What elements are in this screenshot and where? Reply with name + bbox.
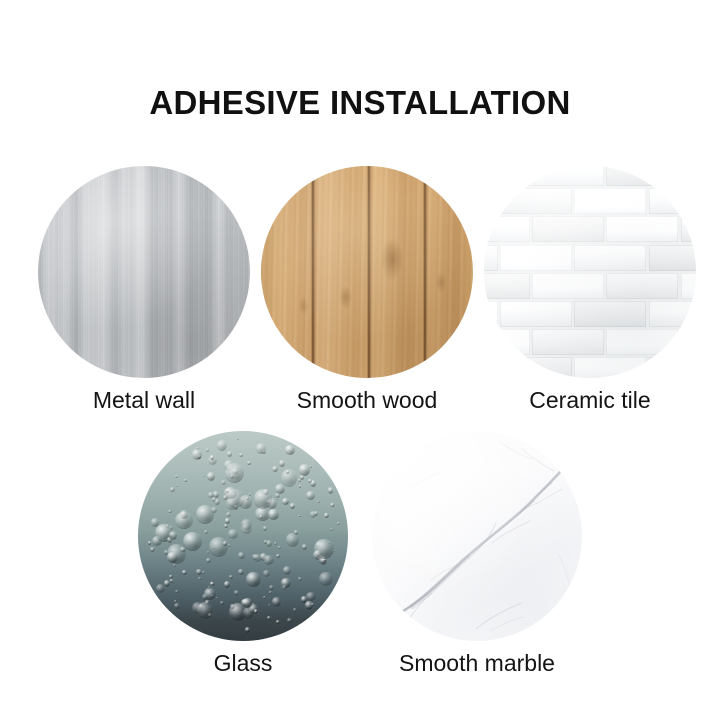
water-droplet: [223, 541, 227, 545]
water-droplet: [210, 455, 214, 460]
water-droplet: [246, 572, 260, 587]
water-droplet: [168, 510, 171, 513]
water-droplet: [308, 479, 312, 482]
glass-swatch-image: [138, 431, 348, 641]
water-droplet: [298, 515, 300, 517]
water-droplet: [175, 590, 178, 593]
water-droplet: [175, 475, 178, 479]
water-droplet: [282, 585, 287, 590]
water-droplet: [302, 544, 307, 549]
water-droplet: [268, 509, 279, 519]
water-droplet: [319, 572, 334, 585]
water-droplet: [156, 584, 165, 593]
water-droplet: [324, 513, 328, 517]
water-droplet: [276, 620, 281, 624]
water-droplet: [198, 577, 202, 580]
tile-brick: [532, 329, 604, 355]
water-droplet: [170, 579, 173, 583]
water-droplet: [243, 607, 254, 619]
smooth-marble-label: Smooth marble: [399, 651, 555, 676]
tile-brick: [574, 301, 646, 327]
tile-brick: [484, 188, 498, 214]
water-droplet: [225, 463, 244, 483]
water-droplet: [242, 598, 253, 608]
water-droplet: [169, 575, 172, 579]
water-droplet: [210, 582, 215, 586]
water-droplet: [328, 487, 334, 493]
water-droplet: [276, 554, 280, 558]
tile-brick: [681, 273, 696, 299]
tile-brick: [681, 329, 696, 355]
water-droplet: [192, 449, 202, 459]
water-droplet: [228, 544, 231, 547]
water-droplet: [245, 627, 250, 632]
tile-brick: [484, 301, 498, 327]
water-droplet: [221, 480, 226, 485]
surface-row-top: Metal wall Smooth wood Ceramic tile: [0, 166, 720, 413]
tile-brick: [484, 216, 530, 242]
water-droplet: [182, 570, 187, 574]
tile-brick: [606, 216, 678, 242]
ceramic-tile-label: Ceramic tile: [529, 388, 650, 413]
water-droplet: [208, 492, 214, 497]
water-droplet: [183, 532, 202, 551]
tile-brick: [681, 216, 696, 242]
tile-brick: [484, 166, 530, 186]
surface-card-ceramic-tile: Ceramic tile: [484, 166, 696, 413]
tile-brick: [649, 188, 696, 214]
water-droplet: [196, 505, 213, 524]
water-droplet: [286, 533, 299, 547]
water-droplet: [202, 571, 205, 574]
water-droplet: [276, 498, 278, 500]
metal-wall-label: Metal wall: [93, 388, 195, 413]
water-droplet: [298, 577, 301, 581]
water-droplet: [197, 602, 213, 618]
water-droplet: [282, 498, 289, 505]
water-droplet: [287, 618, 292, 623]
water-droplet: [314, 539, 333, 559]
tile-brick: [574, 188, 646, 214]
water-droplet: [263, 596, 266, 599]
water-droplet: [224, 524, 228, 529]
water-droplet: [269, 591, 273, 595]
water-droplet: [226, 512, 231, 517]
water-droplet: [224, 581, 230, 588]
water-droplet: [238, 569, 244, 575]
water-droplet: [254, 554, 262, 562]
water-droplet: [290, 503, 295, 508]
surface-card-metal-wall: Metal wall: [38, 166, 250, 413]
tile-brick: [649, 301, 696, 327]
water-droplet: [259, 515, 262, 519]
surface-row-bottom: Glass: [0, 431, 720, 676]
water-droplet: [206, 558, 211, 563]
water-droplet: [202, 594, 208, 599]
smooth-wood-swatch-image: [261, 166, 473, 378]
water-droplet: [241, 519, 251, 530]
water-droplet: [299, 485, 301, 487]
water-droplet: [263, 555, 274, 565]
marble-vein-graphic: [372, 431, 582, 641]
water-droplet: [229, 575, 233, 579]
water-droplet: [272, 597, 281, 606]
tile-brick: [484, 273, 530, 299]
water-droplet: [239, 453, 243, 457]
water-droplet: [269, 585, 274, 590]
water-droplet: [274, 542, 277, 545]
water-droplet: [169, 531, 177, 540]
tile-brick: [649, 245, 696, 271]
water-droplet: [246, 497, 249, 500]
smooth-marble-swatch-image: [372, 431, 582, 641]
product-infographic: ADHESIVE INSTALLATION Metal wall Smooth …: [0, 0, 720, 720]
water-droplet: [300, 475, 304, 480]
water-droplet: [254, 489, 272, 509]
water-droplet: [212, 497, 216, 501]
water-droplet: [227, 451, 232, 457]
water-droplet: [263, 526, 268, 531]
water-droplet: [238, 552, 245, 559]
water-droplet: [293, 608, 296, 611]
water-droplet: [207, 551, 210, 554]
water-droplet: [272, 466, 278, 472]
ceramic-tile-swatch-image: [484, 166, 696, 378]
tile-brick: [681, 166, 696, 186]
water-droplet: [247, 461, 251, 466]
water-droplet: [330, 528, 333, 531]
water-droplet: [237, 438, 240, 440]
water-droplet: [220, 601, 224, 605]
water-droplet: [174, 603, 180, 610]
water-droplet: [314, 511, 319, 516]
water-droplet: [180, 510, 188, 519]
glass-label: Glass: [214, 651, 273, 676]
tile-brick: [574, 357, 646, 378]
water-droplet: [217, 440, 227, 451]
water-droplet: [206, 448, 210, 452]
tile-brick: [500, 357, 572, 378]
water-droplet: [216, 597, 218, 599]
tile-brick: [606, 273, 678, 299]
smooth-wood-label: Smooth wood: [297, 388, 438, 413]
water-droplet: [268, 604, 271, 607]
tile-brick: [484, 245, 498, 271]
water-droplet: [150, 547, 155, 552]
water-droplet: [283, 566, 291, 576]
water-droplet: [256, 443, 266, 454]
water-droplet: [225, 518, 230, 524]
water-droplet: [204, 530, 208, 534]
water-droplet: [294, 530, 299, 535]
water-droplet: [337, 522, 340, 525]
water-droplet: [207, 472, 215, 481]
water-droplet: [310, 465, 313, 467]
water-droplet: [263, 570, 270, 577]
tile-brick: [532, 273, 604, 299]
water-droplet: [148, 541, 151, 544]
surface-card-glass: Glass: [138, 431, 348, 676]
water-droplet: [279, 460, 286, 467]
surface-card-smooth-marble: Smooth marble: [372, 431, 582, 676]
water-droplet: [311, 603, 314, 605]
water-droplet: [174, 600, 177, 603]
water-droplet: [164, 550, 168, 554]
water-droplet: [184, 479, 188, 482]
water-droplet: [330, 503, 335, 508]
tile-brick: [649, 357, 696, 378]
surface-card-smooth-wood: Smooth wood: [261, 166, 473, 413]
page-title: ADHESIVE INSTALLATION: [0, 84, 720, 122]
tile-brick: [484, 357, 498, 378]
water-droplet: [170, 487, 175, 492]
water-droplet: [230, 604, 235, 609]
tile-brick: [532, 166, 604, 186]
water-droplet: [285, 445, 295, 455]
metal-wall-swatch-image: [38, 166, 250, 378]
water-droplet: [298, 479, 301, 482]
tile-brick: [500, 188, 572, 214]
tile-brick: [500, 301, 572, 327]
tile-brick: [574, 245, 646, 271]
water-droplet: [176, 485, 178, 487]
tile-brick: [500, 245, 572, 271]
water-droplet: [317, 501, 319, 503]
water-droplet: [254, 609, 258, 613]
water-droplet: [333, 550, 335, 552]
tile-brick: [532, 216, 604, 242]
water-droplet: [278, 546, 281, 549]
water-droplet: [306, 491, 314, 500]
water-droplet: [152, 536, 162, 545]
tile-brick: [484, 329, 530, 355]
tile-brick: [606, 329, 678, 355]
water-droplet: [306, 592, 316, 601]
water-droplet: [267, 616, 271, 620]
water-droplet: [203, 475, 205, 478]
water-droplet: [173, 564, 176, 567]
water-droplet: [228, 529, 238, 539]
tile-brick: [606, 166, 678, 186]
water-droplet: [212, 547, 214, 549]
water-droplet: [234, 590, 239, 596]
